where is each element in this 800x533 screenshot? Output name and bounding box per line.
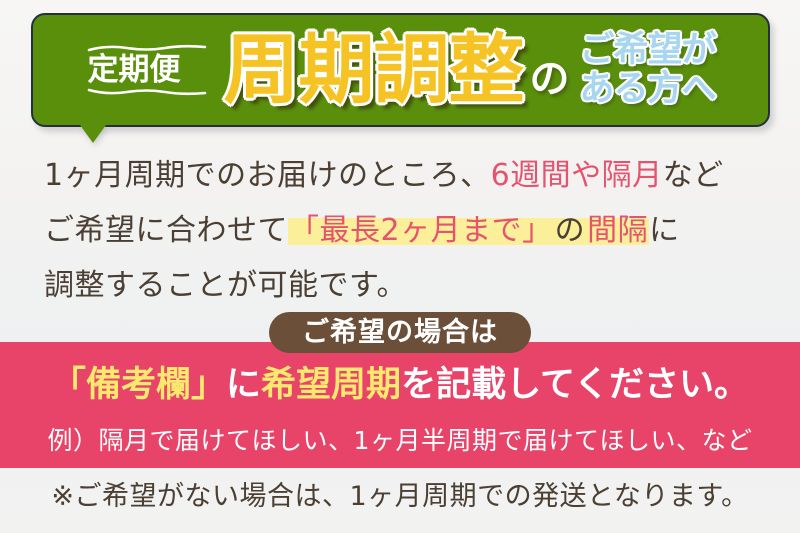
body-line-2-accent-2: 間隔 xyxy=(586,213,649,248)
header-audience-note: ご希望が ある方へ xyxy=(579,31,715,109)
body-line-3: 調整することが可能です。 xyxy=(44,258,764,313)
instruction-example: 例）隔月で届けてほしい、1ヶ月半周期で届けてほしい、など xyxy=(0,424,800,458)
body-line-2-accent: 「最長2ヶ月まで」 xyxy=(288,213,554,248)
footer-note: ※ご希望がない場合は、1ヶ月周期での発送となります。 xyxy=(0,478,800,516)
subscription-stamp-label: 定期便 xyxy=(87,53,207,87)
subscription-stamp: 定期便 xyxy=(85,40,209,100)
wave-line-bottom-icon xyxy=(87,87,207,96)
header-audience-line-2: ある方へ xyxy=(579,70,715,109)
condition-badge: ご希望の場合は xyxy=(269,312,531,353)
instruction-headline: 「備考欄」に希望周期を記載してください。 xyxy=(0,363,800,407)
instruction-headline-part-a: 「備考欄」 xyxy=(51,365,226,405)
promo-banner: 定期便 周期調整 の ご希望が ある方へ 1ヶ月周期でのお届けのところ、6週間や… xyxy=(0,0,800,533)
instruction-headline-part-d: を記載してください。 xyxy=(401,365,749,405)
callout-tail-icon xyxy=(80,125,106,143)
body-line-1-part-c: など xyxy=(663,158,724,193)
header-callout: 定期便 周期調整 の ご希望が ある方へ xyxy=(31,13,770,127)
instruction-headline-part-c: 希望周期 xyxy=(261,365,401,405)
header-content: 定期便 周期調整 の ご希望が ある方へ xyxy=(33,15,768,125)
condition-badge-label: ご希望の場合は xyxy=(302,319,498,346)
body-line-1-part-a: 1ヶ月周期でのお届けのところ、 xyxy=(44,158,491,193)
header-title-particle: の xyxy=(529,59,569,99)
body-copy: 1ヶ月周期でのお届けのところ、6週間や隔月など ご希望に合わせて「最長2ヶ月まで… xyxy=(44,148,764,313)
header-audience-line-1: ご希望が xyxy=(579,31,715,70)
body-line-2-part-a: ご希望に合わせて xyxy=(44,213,288,248)
body-line-1: 1ヶ月周期でのお届けのところ、6週間や隔月など xyxy=(44,148,764,203)
instruction-headline-part-b: に xyxy=(226,365,261,405)
body-line-2-part-c: の xyxy=(554,213,587,248)
header-title-main: 周期調整 xyxy=(223,32,523,108)
body-line-2-part-e: に xyxy=(649,213,680,248)
body-line-2: ご希望に合わせて「最長2ヶ月まで」の間隔に xyxy=(44,203,764,258)
body-line-1-accent: 6週間や隔月 xyxy=(491,158,663,193)
